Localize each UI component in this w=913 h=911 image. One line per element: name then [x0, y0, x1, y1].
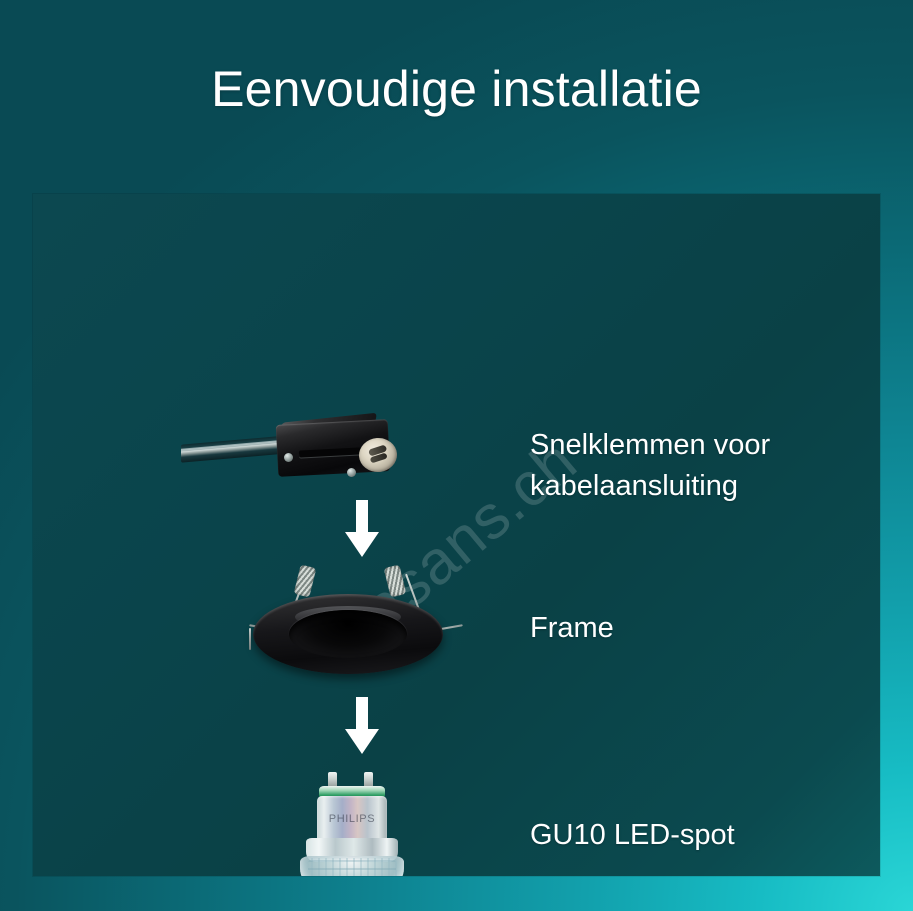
bulb-lens-facets-horizontal — [308, 858, 396, 876]
arrow-down-icon — [339, 500, 385, 558]
bulb-body: PHILIPS — [317, 796, 387, 844]
step-label-1: Snelklemmen voor kabelaansluiting — [530, 425, 770, 507]
product-image-gu10-led-spot: PHILIPS — [298, 772, 406, 876]
step-label-2: Frame — [530, 608, 614, 649]
connector-cable — [181, 435, 289, 462]
page-title: Eenvoudige installatie — [0, 62, 913, 117]
frame-spring-clip-left-end — [249, 628, 251, 650]
step-label-3: GU10 LED-spot — [530, 815, 735, 856]
bulb-brand-label: PHILIPS — [317, 813, 387, 825]
connector-screw — [347, 468, 356, 477]
diagram-panel: alasans.ch Snelklemmen voor kabelaanslui… — [33, 194, 880, 876]
frame-clip-head-right — [384, 565, 407, 598]
arrow-down-icon — [339, 697, 385, 755]
frame-clip-head-left — [294, 565, 317, 598]
connector-screw — [284, 453, 293, 462]
product-image-quick-connector — [181, 416, 397, 494]
installation-infographic: Eenvoudige installatie alasans.ch Snelkl… — [0, 0, 913, 911]
frame-inner-aperture — [289, 610, 407, 658]
product-image-downlight-frame — [229, 558, 467, 680]
